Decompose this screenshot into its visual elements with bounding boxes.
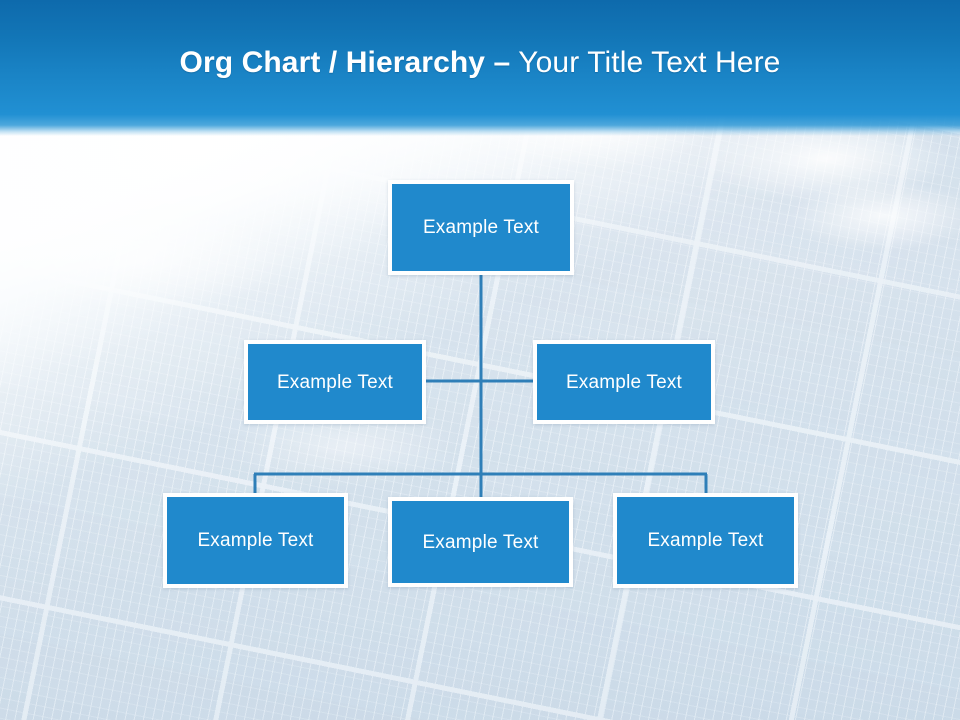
slide-canvas: Org Chart / Hierarchy – Your Title Text …	[0, 0, 960, 720]
org-node-label: Example Text	[423, 218, 539, 237]
org-node-leaf-right[interactable]: Example Text	[613, 493, 798, 588]
org-node-label: Example Text	[647, 531, 763, 550]
org-node-mid-left[interactable]: Example Text	[244, 340, 426, 424]
org-node-leaf-center[interactable]: Example Text	[388, 497, 573, 587]
org-node-label: Example Text	[277, 373, 393, 392]
org-node-root[interactable]: Example Text	[388, 180, 574, 275]
connector-lines	[0, 0, 960, 720]
org-node-mid-right[interactable]: Example Text	[533, 340, 715, 424]
org-node-label: Example Text	[566, 373, 682, 392]
org-node-label: Example Text	[197, 531, 313, 550]
org-node-label: Example Text	[422, 533, 538, 552]
org-node-leaf-left[interactable]: Example Text	[163, 493, 348, 588]
